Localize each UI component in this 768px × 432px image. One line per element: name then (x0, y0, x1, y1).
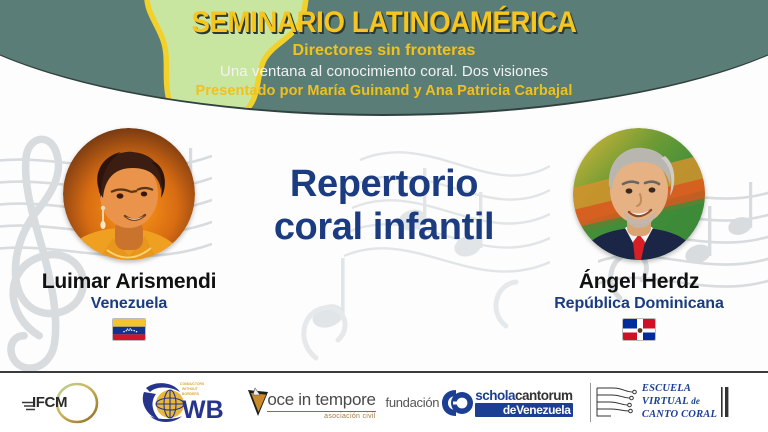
portrait-luimar-arismendi (63, 128, 195, 260)
wb-globe-shape: CONDUCTORS WITHOUT BORDERS WB (143, 382, 224, 424)
seminar-tagline: Una ventana al conocimiento coral. Dos v… (0, 63, 768, 80)
page-title-line-2: coral infantil (228, 206, 540, 249)
schola-word-schola: schola (475, 388, 515, 403)
schola-cantorum-logo-icon[interactable]: fundación scholacantorum deVenezuela (386, 377, 572, 429)
schola-word-cantorum: cantorum (515, 388, 573, 403)
voce-logo-sublabel: asociación civil (267, 413, 375, 420)
schola-word-venezuela: Venezuela (516, 403, 570, 417)
svg-text:CONDUCTORS: CONDUCTORS (180, 382, 205, 386)
escuela-circuit-staff-icon (595, 384, 639, 420)
schola-sc-monogram-icon (440, 387, 474, 419)
portrait-angel-herdz (573, 128, 705, 260)
page-title: Repertorio coral infantil (228, 163, 540, 248)
page-title-line-1: Repertorio (228, 163, 540, 206)
schola-prefix-label: fundación (386, 395, 440, 410)
ifcm-logo-icon[interactable]: IFCM (0, 377, 128, 429)
speaker-country: Venezuela (4, 295, 254, 313)
escuela-line-2: VIRTUAL de (642, 396, 717, 409)
seminar-presenters: Presentado por María Guinand y Ana Patri… (0, 83, 768, 99)
escuela-double-bar-icon (720, 385, 732, 419)
dominican-republic-flag-icon (622, 318, 656, 341)
escuela-line-1: ESCUELA (642, 383, 717, 396)
escuela-word-de: de (691, 396, 700, 406)
header-text-block: SEMINARIO LATINOAMÉRICA Directores sin f… (0, 0, 768, 112)
speaker-name: Ángel Herdz (514, 270, 764, 294)
seminar-title: SEMINARIO LATINOAMÉRICA (31, 7, 738, 39)
speaker-card-right: Ángel Herdz República Dominicana (514, 128, 764, 341)
svg-text:WB: WB (182, 396, 224, 424)
voce-logo-label: oce in tempore (267, 390, 375, 412)
schola-sub-label: deVenezuela (475, 403, 572, 417)
poster-canvas: SEMINARIO LATINOAMÉRICA Directores sin f… (0, 0, 768, 432)
escuela-line-3: CANTO CORAL (642, 409, 717, 422)
wb-globe-logo-icon[interactable]: CONDUCTORS WITHOUT BORDERS WB (128, 377, 236, 429)
svg-text:WITHOUT: WITHOUT (182, 387, 199, 391)
escuela-virtual-canto-coral-logo-icon[interactable]: ESCUELA VIRTUAL de CANTO CORAL (572, 377, 750, 429)
schola-word-de: de (503, 403, 516, 417)
speaker-card-left: Luimar Arismendi Venezuela (4, 128, 254, 341)
speaker-country: República Dominicana (514, 295, 764, 313)
ifcm-logo-label: IFCM (32, 394, 67, 411)
speaker-name: Luimar Arismendi (4, 270, 254, 294)
footer-logo-bar: IFCM CONDUCTORS WITHO (0, 373, 768, 432)
seminar-subtitle: Directores sin fronteras (0, 42, 768, 60)
escuela-word-virtual: VIRTUAL (642, 396, 689, 407)
voce-in-tempore-logo-icon[interactable]: oce in tempore asociación civil (236, 377, 386, 429)
venezuela-flag-icon (112, 318, 146, 341)
schola-main-label: scholacantorum (475, 388, 572, 403)
